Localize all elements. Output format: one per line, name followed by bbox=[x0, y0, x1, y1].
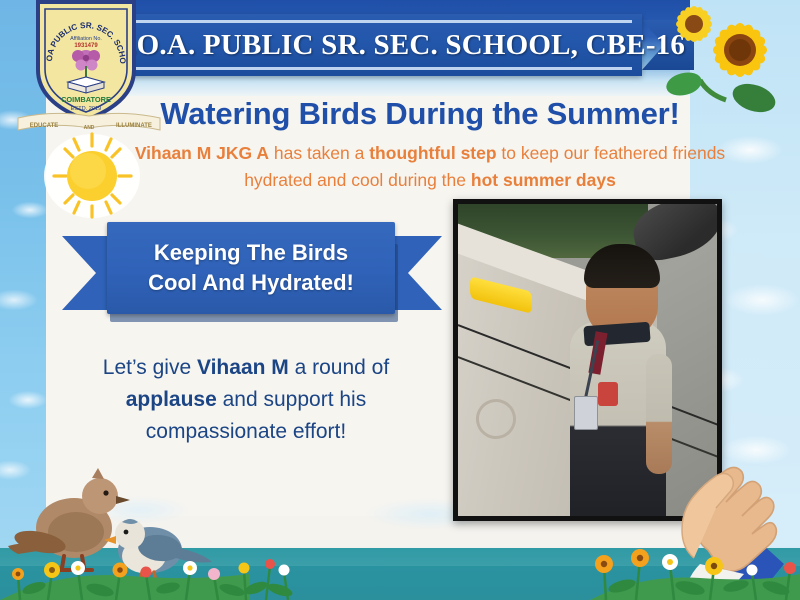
flower-meadow-middle bbox=[232, 540, 362, 600]
sunflower-large bbox=[711, 21, 769, 79]
closing-seg-2: a round of bbox=[289, 356, 389, 379]
flower-meadow-left bbox=[0, 526, 250, 600]
intro-seg-4: hot summer days bbox=[471, 170, 616, 190]
intro-seg-1: has taken a bbox=[269, 143, 369, 163]
photo-uniform-badge bbox=[598, 382, 618, 406]
page-title: Watering Birds During the Summer! bbox=[120, 96, 720, 132]
banner-line-2: Cool And Hydrated! bbox=[148, 268, 354, 298]
closing-paragraph: Let’s give Vihaan M a round of applause … bbox=[56, 352, 436, 448]
closing-seg-1: Vihaan M bbox=[197, 356, 289, 379]
highlight-banner: Keeping The Birds Cool And Hydrated! bbox=[62, 222, 442, 326]
intro-seg-0: Vihaan M JKG A bbox=[135, 143, 269, 163]
banner-body: Keeping The Birds Cool And Hydrated! bbox=[107, 222, 395, 314]
logo-affiliation-label: Affiliation No. bbox=[70, 36, 102, 42]
closing-seg-3: applause bbox=[126, 388, 217, 411]
banner-line-1: Keeping The Birds bbox=[154, 238, 348, 268]
photo-id-card bbox=[574, 396, 598, 430]
logo-affiliation-number: 1931479 bbox=[74, 43, 98, 49]
sunflower-small bbox=[675, 5, 714, 44]
intro-paragraph: Vihaan M JKG A has taken a thoughtful st… bbox=[110, 140, 750, 194]
school-achievement-poster: S.B.I.O.A. PUBLIC SR. SEC. SCHOOL, CBE-1… bbox=[0, 0, 800, 600]
intro-seg-2: thoughtful step bbox=[369, 143, 496, 163]
closing-seg-0: Let’s give bbox=[103, 356, 197, 379]
logo-city: COIMBATORE bbox=[61, 95, 111, 104]
school-name-title: S.B.I.O.A. PUBLIC SR. SEC. SCHOOL, CBE-1… bbox=[116, 22, 636, 68]
flower-meadow-right bbox=[590, 520, 800, 600]
